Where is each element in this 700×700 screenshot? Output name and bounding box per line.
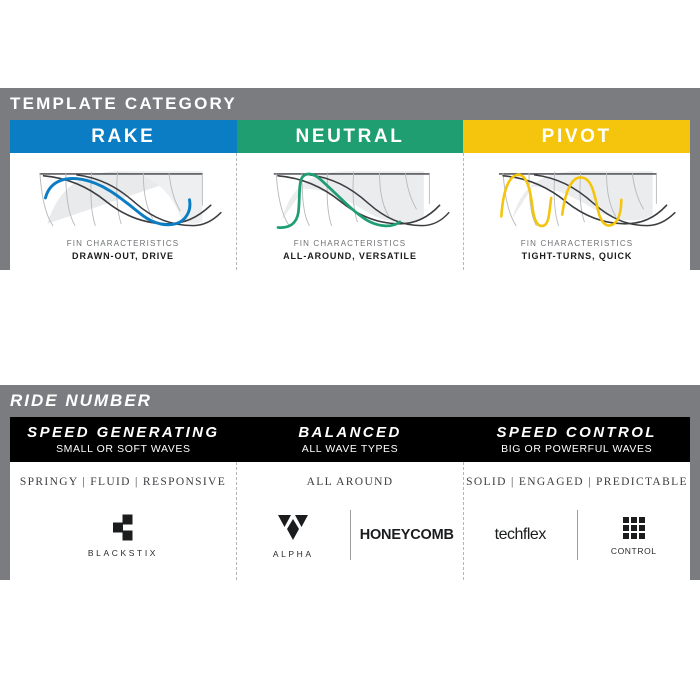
pivot-caption: FIN CHARACTERISTICS TIGHT-TURNS, QUICK <box>521 239 634 262</box>
logo-name-honeycomb: HONEYCOMB <box>360 527 454 543</box>
control-grid-icon <box>621 515 647 541</box>
ride-cell-speed-generating: SPRINGY | FLUID | RESPONSIVE BLACKSTIX <box>10 462 236 580</box>
template-category-title: TEMPLATE CATEGORY <box>0 88 700 120</box>
category-cell-rake: FIN CHARACTERISTICS DRAWN-OUT, DRIVE <box>10 153 236 270</box>
infographic-page: TEMPLATE CATEGORY RAKE NEUTRAL PIVOT <box>0 0 700 700</box>
ride-header-subtitle-balanced: ALL WAVE TYPES <box>302 442 399 456</box>
category-header-pivot[interactable]: PIVOT <box>463 120 690 153</box>
pivot-caption-value: TIGHT-TURNS, QUICK <box>521 251 634 262</box>
rake-caption: FIN CHARACTERISTICS DRAWN-OUT, DRIVE <box>67 239 180 262</box>
ride-cell-speed-control: SOLID | ENGAGED | PREDICTABLE techflex <box>463 462 690 580</box>
ride-number-body-row: SPRINGY | FLUID | RESPONSIVE BLACKSTIX A… <box>10 462 690 580</box>
template-category-body-row: FIN CHARACTERISTICS DRAWN-OUT, DRIVE <box>10 153 690 270</box>
logo-blackstix[interactable]: BLACKSTIX <box>10 504 236 566</box>
template-category-header-row: RAKE NEUTRAL PIVOT <box>10 120 690 153</box>
ride-cell-balanced: ALL AROUND ALPHA HONEYCOMB <box>236 462 463 580</box>
rake-caption-value: DRAWN-OUT, DRIVE <box>67 251 180 262</box>
category-label-pivot: PIVOT <box>542 126 612 148</box>
ride-header-title-speed-generating: SPEED GENERATING <box>27 424 219 441</box>
ride-tagline-speed-generating: SPRINGY | FLUID | RESPONSIVE <box>20 476 226 488</box>
pivot-caption-label: FIN CHARACTERISTICS <box>521 239 634 249</box>
ride-header-speed-control[interactable]: SPEED CONTROL BIG OR POWERFUL WAVES <box>463 417 690 462</box>
rake-fin-template-diagram <box>10 161 236 233</box>
ride-header-balanced[interactable]: BALANCED ALL WAVE TYPES <box>237 417 464 462</box>
alpha-chevron-icon <box>276 512 310 544</box>
logo-name-blackstix: BLACKSTIX <box>88 548 158 558</box>
logo-row-balanced: ALPHA HONEYCOMB <box>237 504 463 566</box>
logo-control[interactable]: CONTROL <box>578 504 691 566</box>
neutral-caption-value: ALL-AROUND, VERSATILE <box>283 251 417 262</box>
ride-number-table: SPEED GENERATING SMALL OR SOFT WAVES BAL… <box>10 417 690 580</box>
logo-name-alpha: ALPHA <box>273 549 314 559</box>
neutral-caption: FIN CHARACTERISTICS ALL-AROUND, VERSATIL… <box>283 239 417 262</box>
neutral-caption-label: FIN CHARACTERISTICS <box>283 239 417 249</box>
ride-number-title: RIDE NUMBER <box>0 385 700 417</box>
category-header-rake[interactable]: RAKE <box>10 120 237 153</box>
ride-header-subtitle-speed-generating: SMALL OR SOFT WAVES <box>56 442 191 456</box>
neutral-fin-template-diagram <box>237 161 463 233</box>
logo-name-techflex: techflex <box>495 526 546 544</box>
logo-name-control: CONTROL <box>611 546 657 556</box>
template-category-table: RAKE NEUTRAL PIVOT <box>10 120 690 270</box>
logo-row-speed-generating: BLACKSTIX <box>10 504 236 566</box>
logo-honeycomb[interactable]: HONEYCOMB <box>351 504 464 566</box>
logo-row-speed-control: techflex <box>464 504 690 566</box>
category-cell-neutral: FIN CHARACTERISTICS ALL-AROUND, VERSATIL… <box>236 153 463 270</box>
category-label-neutral: NEUTRAL <box>296 126 405 148</box>
ride-header-subtitle-speed-control: BIG OR POWERFUL WAVES <box>501 442 652 456</box>
logo-alpha[interactable]: ALPHA <box>237 504 350 566</box>
ride-tagline-balanced: ALL AROUND <box>307 476 394 488</box>
ride-header-title-balanced: BALANCED <box>298 424 401 441</box>
ride-number-header-row: SPEED GENERATING SMALL OR SOFT WAVES BAL… <box>10 417 690 462</box>
category-header-neutral[interactable]: NEUTRAL <box>237 120 464 153</box>
rake-caption-label: FIN CHARACTERISTICS <box>67 239 180 249</box>
ride-header-title-speed-control: SPEED CONTROL <box>496 424 656 441</box>
category-label-rake: RAKE <box>91 126 155 148</box>
ride-tagline-speed-control: SOLID | ENGAGED | PREDICTABLE <box>466 476 688 488</box>
category-cell-pivot: FIN CHARACTERISTICS TIGHT-TURNS, QUICK <box>463 153 690 270</box>
ride-header-speed-generating[interactable]: SPEED GENERATING SMALL OR SOFT WAVES <box>10 417 237 462</box>
pivot-fin-template-diagram <box>464 161 690 233</box>
blackstix-squares-icon <box>108 513 138 543</box>
logo-techflex[interactable]: techflex <box>464 504 577 566</box>
